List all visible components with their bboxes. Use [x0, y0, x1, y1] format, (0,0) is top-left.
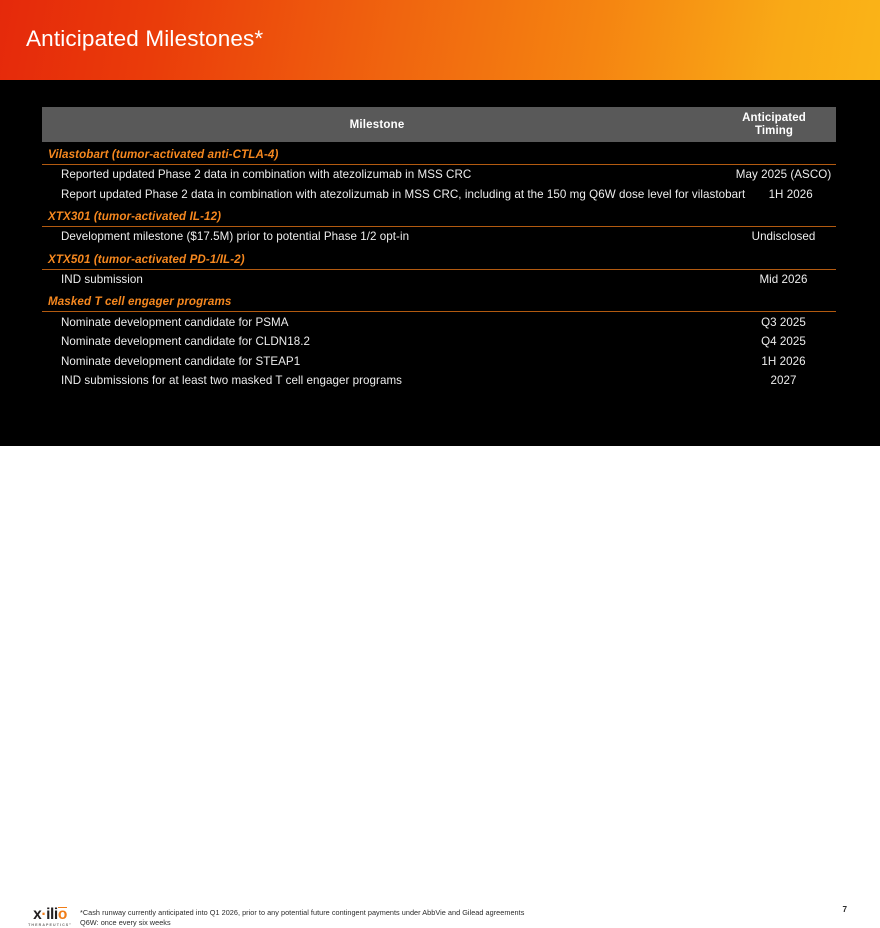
- logo-letter-o: o: [58, 907, 67, 921]
- timing-text: Q4 2025: [731, 335, 836, 348]
- footer: x·ilio THERAPEUTICS° *Cash runway curren…: [0, 446, 880, 495]
- logo-letters-ili: ili: [46, 906, 58, 923]
- column-header-timing-line2: Timing: [712, 125, 836, 138]
- page-title: Anticipated Milestones*: [26, 26, 263, 52]
- milestone-text: IND submissions for at least two masked …: [42, 374, 731, 387]
- table-sections: Vilastobart (tumor-activated anti-CTLA-4…: [42, 142, 836, 391]
- milestone-text: Nominate development candidate for PSMA: [42, 316, 731, 329]
- footnote: *Cash runway currently anticipated into …: [80, 908, 780, 928]
- timing-text: Q3 2025: [731, 316, 836, 329]
- milestones-table: Milestone Anticipated Timing Vilastobart…: [42, 107, 836, 391]
- milestone-text: Nominate development candidate for CLDN1…: [42, 335, 731, 348]
- xilio-logo: x·ilio THERAPEUTICS°: [24, 907, 76, 927]
- milestone-text: IND submission: [42, 273, 731, 286]
- header-band: Anticipated Milestones*: [0, 0, 880, 80]
- section-header: Masked T cell engager programs: [42, 289, 836, 312]
- footnote-line-2: Q6W: once every six weeks: [80, 918, 780, 928]
- timing-text: 2027: [731, 374, 836, 387]
- section-header: XTX301 (tumor-activated IL-12): [42, 204, 836, 227]
- page-number: 7: [842, 905, 847, 914]
- logo-letter-x: x: [33, 906, 41, 923]
- milestone-text: Development milestone ($17.5M) prior to …: [42, 230, 731, 243]
- table-row: Report updated Phase 2 data in combinati…: [42, 185, 836, 205]
- timing-text: 1H 2026: [745, 188, 836, 201]
- table-row: IND submissions for at least two masked …: [42, 371, 836, 391]
- logo-wordmark: x·ilio: [24, 907, 76, 922]
- milestone-text: Nominate development candidate for STEAP…: [42, 355, 731, 368]
- table-row: IND submissionMid 2026: [42, 270, 836, 290]
- slide: Anticipated Milestones* Milestone Antici…: [0, 0, 880, 495]
- timing-text: Mid 2026: [731, 273, 836, 286]
- slide-body: Milestone Anticipated Timing Vilastobart…: [0, 80, 880, 446]
- column-header-timing-line1: Anticipated: [712, 112, 836, 125]
- table-row: Development milestone ($17.5M) prior to …: [42, 227, 836, 247]
- table-row: Nominate development candidate for CLDN1…: [42, 332, 836, 352]
- timing-text: May 2025 (ASCO): [731, 168, 836, 181]
- table-header-row: Milestone Anticipated Timing: [42, 107, 836, 142]
- column-header-milestone: Milestone: [42, 119, 712, 131]
- table-row: Nominate development candidate for PSMAQ…: [42, 312, 836, 332]
- milestone-text: Report updated Phase 2 data in combinati…: [42, 188, 745, 201]
- table-row: Nominate development candidate for STEAP…: [42, 352, 836, 372]
- section-header: XTX501 (tumor-activated PD-1/IL-2): [42, 247, 836, 270]
- milestone-text: Reported updated Phase 2 data in combina…: [42, 168, 731, 181]
- column-header-anticipated-timing: Anticipated Timing: [712, 112, 836, 137]
- timing-text: Undisclosed: [731, 230, 836, 243]
- footnote-line-1: *Cash runway currently anticipated into …: [80, 908, 780, 918]
- table-row: Reported updated Phase 2 data in combina…: [42, 165, 836, 185]
- timing-text: 1H 2026: [731, 355, 836, 368]
- logo-tagline: THERAPEUTICS°: [24, 924, 76, 928]
- section-header: Vilastobart (tumor-activated anti-CTLA-4…: [42, 142, 836, 165]
